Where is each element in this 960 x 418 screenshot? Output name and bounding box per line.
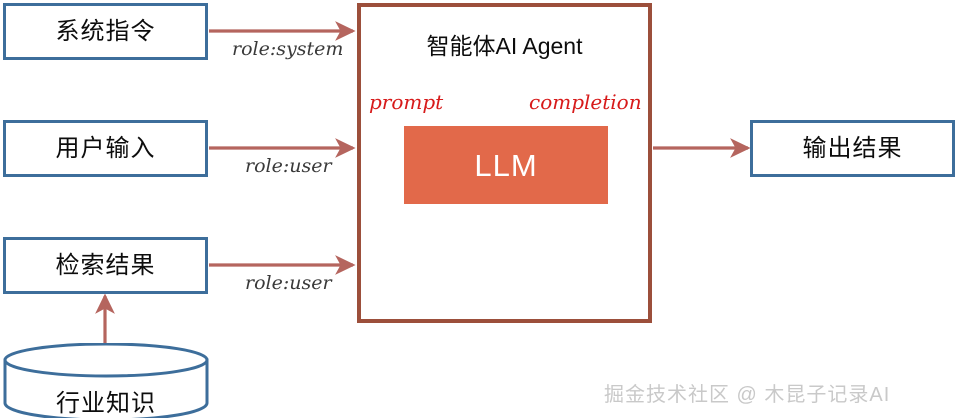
label-prompt: prompt (369, 92, 443, 112)
edge-label-retrieval: role:user (245, 274, 332, 293)
node-llm-label: LLM (474, 150, 537, 181)
diagram-canvas: 系统指令 用户输入 检索结果 role:system role:user rol… (0, 0, 960, 418)
node-llm[interactable]: LLM (404, 126, 608, 204)
node-system-instruction[interactable]: 系统指令 (3, 3, 208, 60)
node-industry-knowledge-label: 行业知识 (2, 383, 210, 418)
node-output-result-label: 输出结果 (803, 137, 903, 161)
node-industry-knowledge[interactable]: 行业知识 (2, 343, 210, 418)
node-retrieval-result-label: 检索结果 (56, 254, 156, 278)
watermark-text: 掘金技术社区 @ 木昆子记录AI (604, 378, 890, 407)
node-user-input[interactable]: 用户输入 (3, 120, 208, 177)
label-completion: completion (529, 92, 642, 112)
node-system-instruction-label: 系统指令 (56, 20, 156, 44)
ai-agent-title: 智能体AI Agent (361, 27, 648, 61)
edge-label-user: role:user (245, 157, 332, 176)
edge-label-system: role:system (232, 40, 343, 59)
node-retrieval-result[interactable]: 检索结果 (3, 237, 208, 294)
node-output-result[interactable]: 输出结果 (750, 120, 955, 177)
node-user-input-label: 用户输入 (56, 137, 156, 161)
